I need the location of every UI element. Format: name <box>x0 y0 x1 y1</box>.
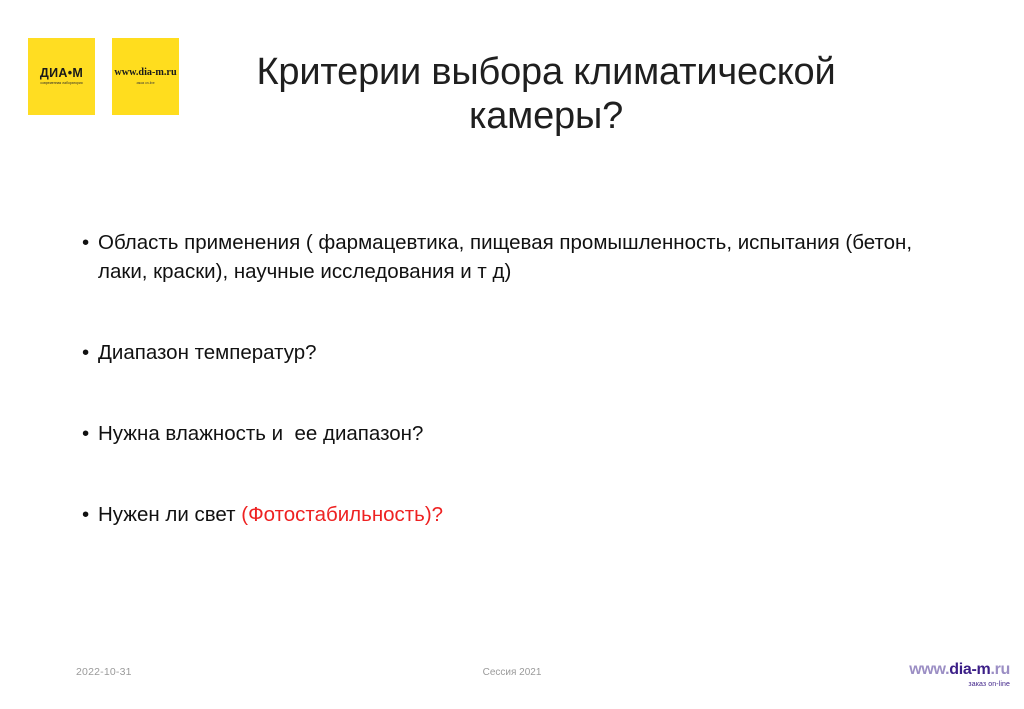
footer-logo-www: www. <box>909 661 949 678</box>
footer-session: Сессия 2021 <box>0 667 1024 678</box>
bullet-dot: • <box>82 228 89 257</box>
logo-group: ДИА•М современная лаборатория www.dia-m.… <box>28 38 179 115</box>
list-item: • Область применения ( фармацевтика, пищ… <box>78 228 958 286</box>
footer-logo-dia: dia-m <box>949 661 990 678</box>
list-item-text: Область применения ( фармацевтика, пищев… <box>98 228 958 286</box>
list-item-text: Нужен ли свет (Фотостабильность)? <box>98 500 958 529</box>
bullet-dot: • <box>82 419 89 448</box>
bullet-dot: • <box>82 338 89 367</box>
list-item-text: Диапазон температур? <box>98 338 958 367</box>
bullet-dot: • <box>82 500 89 529</box>
list-item: • Диапазон температур? <box>78 338 958 367</box>
website-logo-tagline: заказ on-line <box>136 82 154 85</box>
bullet-list: • Область применения ( фармацевтика, пищ… <box>78 228 958 530</box>
diam-logo-text: ДИА•М <box>40 67 83 80</box>
footer-logo[interactable]: www.dia-m.ru заказ on-line <box>909 662 1010 688</box>
diam-logo-tagline: современная лаборатория <box>40 82 82 86</box>
footer-logo-url: www.dia-m.ru <box>909 662 1010 678</box>
list-item-text: Нужна влажность и ее диапазон? <box>98 419 958 448</box>
website-logo-text: www.dia-m.ru <box>114 68 176 78</box>
list-item-text-accent: (Фотостабильность)? <box>241 503 443 526</box>
list-item: • Нужна влажность и ее диапазон? <box>78 419 958 448</box>
footer-logo-tagline: заказ on-line <box>909 681 1010 688</box>
list-item: • Нужен ли свет (Фотостабильность)? <box>78 500 958 529</box>
page-title: Критерии выбора климатической камеры? <box>200 50 892 138</box>
footer-logo-tld: ru <box>995 661 1010 678</box>
diam-logo-box[interactable]: ДИА•М современная лаборатория <box>28 38 95 115</box>
slide-canvas: ДИА•М современная лаборатория www.dia-m.… <box>0 0 1024 709</box>
list-item-text-plain: Нужен ли свет <box>98 503 241 526</box>
website-logo-box[interactable]: www.dia-m.ru заказ on-line <box>112 38 179 115</box>
